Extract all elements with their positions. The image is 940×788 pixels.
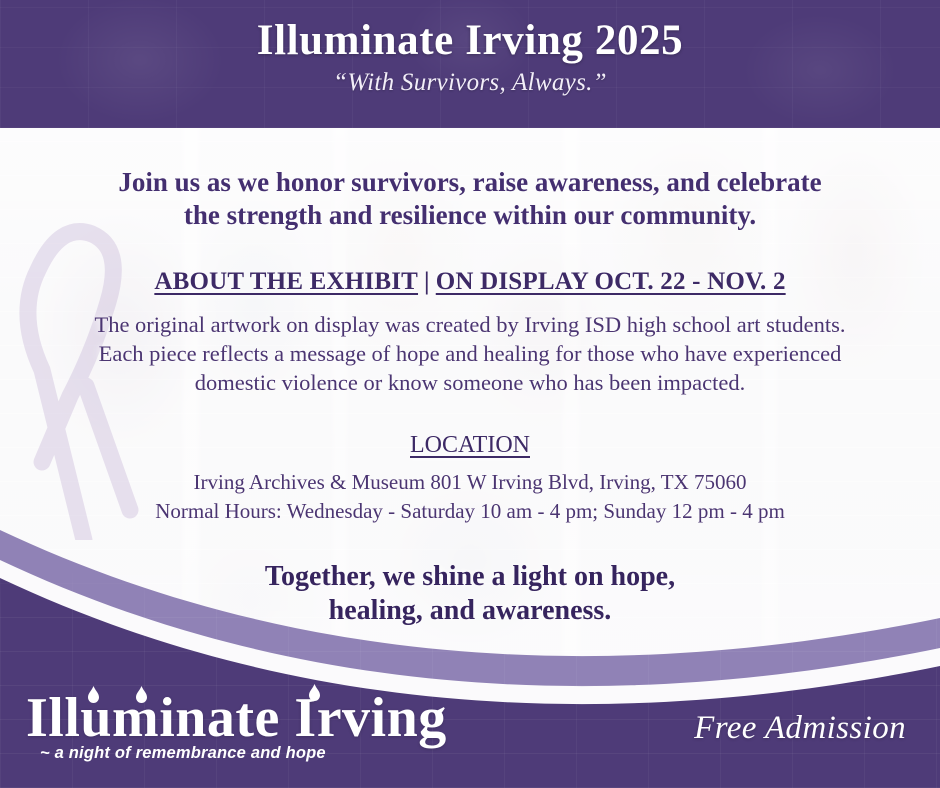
exhibit-heading-right: ON DISPLAY OCT. 22 - NOV. 2: [436, 268, 786, 295]
poster-body: Join us as we honor survivors, raise awa…: [0, 128, 940, 525]
free-admission-label: Free Admission: [694, 710, 906, 747]
poster-header: Illuminate Irving 2025 “With Survivors, …: [0, 0, 940, 128]
exhibit-description: The original artwork on display was crea…: [0, 310, 940, 398]
poster-flyer: Illuminate Irving 2025 “With Survivors, …: [0, 0, 940, 788]
location-address: Irving Archives & Museum 801 W Irving Bl…: [0, 469, 940, 496]
exhibit-heading-left: ABOUT THE EXHIBIT: [154, 268, 418, 295]
exhibit-description-line-2: Each piece reflects a message of hope an…: [16, 339, 924, 368]
event-title: Illuminate Irving 2025: [0, 18, 940, 63]
lede-line-2: the strength and resilience within our c…: [30, 199, 910, 232]
lede-line-1: Join us as we honor survivors, raise awa…: [30, 166, 910, 199]
exhibit-section-heading: ABOUT THE EXHIBIT|ON DISPLAY OCT. 22 - N…: [0, 268, 940, 296]
location-heading: LOCATION: [0, 432, 940, 459]
illuminate-irving-logo: Illuminate Irving ~ a night of remembran…: [26, 690, 446, 763]
exhibit-description-line-3: domestic violence or know someone who ha…: [16, 368, 924, 397]
exhibit-heading-separator: |: [418, 268, 436, 295]
event-tagline: “With Survivors, Always.”: [0, 69, 940, 97]
flame-dot-icon-2: [136, 686, 147, 703]
flame-dot-icon-1: [88, 686, 99, 703]
lede-paragraph: Join us as we honor survivors, raise awa…: [0, 166, 940, 232]
flame-dot-icon-3: [309, 684, 320, 701]
exhibit-description-line-1: The original artwork on display was crea…: [16, 310, 924, 339]
